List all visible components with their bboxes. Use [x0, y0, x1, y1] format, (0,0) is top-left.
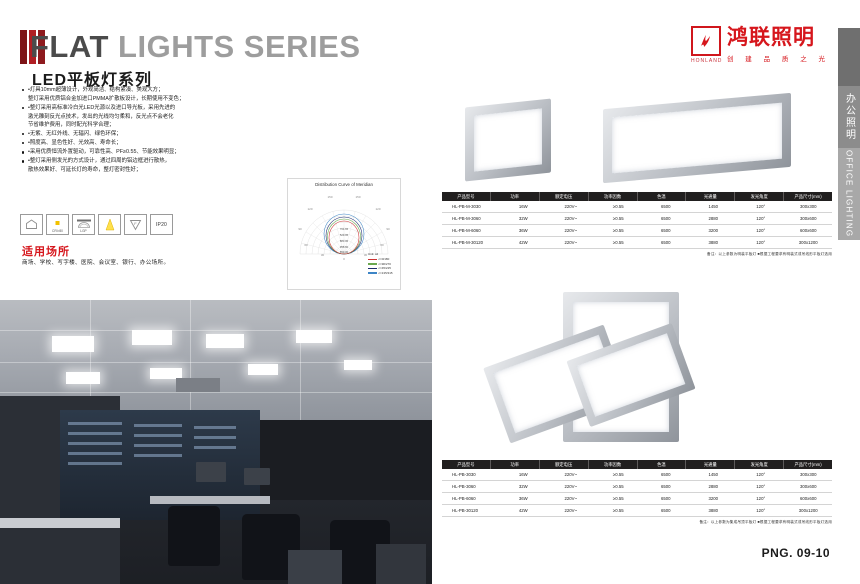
- table-header-row: 产品型号 功率 额定电压 功率因数 色温 光通量 发光角度 产品尺寸(mm): [442, 192, 832, 201]
- cell: 300x1200: [785, 240, 833, 245]
- spec-table-1: 产品型号 功率 额定电压 功率因数 色温 光通量 发光角度 产品尺寸(mm) H…: [442, 192, 832, 257]
- house-icon: [20, 214, 43, 235]
- cell: 6500: [642, 216, 690, 221]
- cell: 2880: [690, 216, 738, 221]
- chart-unit-note: Unit: cd: [368, 252, 398, 256]
- cell: 220V~: [547, 216, 595, 221]
- cell: 32W: [500, 216, 548, 221]
- table-row: HL-PB-3060 32W 220V~ ≥0.55 6500 2880 120…: [442, 481, 832, 493]
- side-tab-label-en: OFFICE LIGHTING: [845, 150, 854, 237]
- cell: 6500: [642, 496, 690, 501]
- column-header: 额定电压: [540, 460, 589, 469]
- cabinet: [288, 550, 342, 584]
- cell: 36W: [500, 228, 548, 233]
- badge-caption: LGP: [73, 229, 94, 233]
- logo-mark: HONLAND: [691, 26, 721, 64]
- monitor: [196, 462, 226, 482]
- cell: 220V~: [547, 508, 595, 513]
- cell: 2880: [690, 484, 738, 489]
- cell: 6500: [642, 508, 690, 513]
- table-row: HL-PB-3030 16W 220V~ ≥0.55 6500 1450 120…: [442, 469, 832, 481]
- cell: ≥0.55: [595, 508, 643, 513]
- panel-light-square: [465, 98, 551, 181]
- cell: 120°: [737, 228, 785, 233]
- light-beam-icon: [98, 214, 121, 235]
- cell: ≥0.55: [595, 204, 643, 209]
- cell: ≥0.55: [595, 240, 643, 245]
- column-header: 产品型号: [442, 460, 491, 469]
- desk-mid: [150, 496, 270, 504]
- side-tab-segment-dark: [838, 28, 860, 86]
- cell: 36W: [500, 496, 548, 501]
- feature-item: •整灯采用高标准冷白光LED光源以及进口导光板，采用先进的: [22, 104, 237, 113]
- feature-item: 散热效果好、可延长灯的寿命，整灯密封性好；: [22, 166, 237, 175]
- column-header: 色温: [638, 460, 687, 469]
- cell: 6500: [642, 240, 690, 245]
- feature-item: •采用优质恒流外置驱动，可靠性高、PF≥0.55、节能效果明显；: [22, 148, 237, 157]
- legend-item: c=135/315: [368, 271, 398, 275]
- column-header: 功率: [491, 460, 540, 469]
- table-header-row: 产品型号 功率 额定电压 功率因数 色温 光通量 发光角度 产品尺寸(mm): [442, 460, 832, 469]
- cell: ≥0.55: [595, 484, 643, 489]
- feature-item: •整灯采用侧发光的方式设计，通过四周的铝边框进行散热，: [22, 157, 237, 166]
- feature-item: 激光雕刻反光点技术，发出的光线均匀柔和，反光点不会老化: [22, 113, 237, 122]
- table-note: 备注：以上参数为集成吊顶平板灯 ■根据工程要求有明装式或吊线形平板灯选用: [442, 520, 832, 525]
- column-header: 色温: [638, 192, 687, 201]
- cell: 300x600: [785, 216, 833, 221]
- side-tab: 办公照明 OFFICE LIGHTING: [834, 0, 860, 584]
- chart-title: Distribution Curve of Meridian: [288, 182, 400, 187]
- photometric-chart: Distribution Curve of Meridian: [287, 178, 401, 290]
- cell: 1450: [690, 204, 738, 209]
- column-header: 光通量: [686, 460, 735, 469]
- cell: HL-PB-M-6060: [442, 228, 500, 233]
- svg-text:30: 30: [364, 253, 368, 257]
- page-title-strong: FLAT: [30, 29, 109, 64]
- cell: 300x300: [785, 204, 833, 209]
- column-header: 额定电压: [540, 192, 589, 201]
- logo-square-icon: [691, 26, 721, 56]
- svg-text:90: 90: [298, 227, 302, 231]
- cell: 120°: [737, 508, 785, 513]
- column-header: 发光角度: [735, 460, 784, 469]
- product-image-top: [455, 95, 825, 185]
- cell: ≥0.55: [595, 228, 643, 233]
- product-image-bottom: [455, 292, 825, 452]
- office-photo: HONLAND PRODUCT HANDBOOK WWW.HONLAND-LIG…: [0, 300, 432, 584]
- table-row: HL-PB-M-6060 36W 220V~ ≥0.55 6500 3200 1…: [442, 225, 832, 237]
- side-tab-segment-cn: 办公照明: [838, 86, 860, 148]
- application-heading: 适用场所: [22, 243, 70, 259]
- column-header: 产品尺寸(mm): [784, 460, 832, 469]
- cell: 120°: [737, 472, 785, 477]
- cell: 120°: [737, 240, 785, 245]
- table-row: HL-PB-6060 36W 220V~ ≥0.55 6500 3200 120…: [442, 493, 832, 505]
- cell: ≥0.55: [595, 216, 643, 221]
- column-header: 功率因数: [589, 460, 638, 469]
- cell: 16W: [500, 204, 548, 209]
- cell: 220V~: [547, 484, 595, 489]
- cell: HL-PB-3030: [442, 472, 500, 477]
- cell: 220V~: [547, 472, 595, 477]
- ip-rating-label: IP20: [156, 222, 167, 228]
- cell: 3880: [690, 240, 738, 245]
- column-header: 产品尺寸(mm): [784, 192, 832, 201]
- application-text: 商场、学校、写字楼、医院、会议室、银行、办公场所。: [22, 258, 169, 266]
- cell: 220V~: [547, 496, 595, 501]
- feature-item: •照度高、显色性好、光效高、寿命长；: [22, 139, 237, 148]
- badge-caption: CRI>80: [47, 229, 68, 233]
- column-header: 光通量: [686, 192, 735, 201]
- svg-text:0: 0: [343, 257, 345, 261]
- svg-text:764.65: 764.65: [340, 227, 349, 231]
- cell: 600x600: [785, 496, 833, 501]
- cell: ≥0.55: [595, 472, 643, 477]
- table-row: HL-PB-30120 42W 220V~ ≥0.55 6500 3880 12…: [442, 505, 832, 517]
- svg-text:150: 150: [355, 195, 360, 199]
- feature-list: •灯具10mm超薄设计，外观简洁、结构紧凑、美观大方； 整灯采用优质铝合金加进口…: [22, 86, 237, 175]
- panel-light-rect: [603, 93, 791, 183]
- cell: 120°: [737, 484, 785, 489]
- cell: 32W: [500, 484, 548, 489]
- page-number: PNG. 09-10: [762, 546, 830, 560]
- square-chip-icon: CRI>80: [46, 214, 69, 235]
- svg-text:F: F: [134, 221, 137, 226]
- cell: HL-PB-6060: [442, 496, 500, 501]
- legend-label: c=135/315: [379, 271, 393, 275]
- cell: 16W: [500, 472, 548, 477]
- svg-text:120: 120: [307, 207, 312, 211]
- cell: HL-PB-M-30120: [442, 240, 500, 245]
- cell: 42W: [500, 508, 548, 513]
- table-row: HL-PB-M-3060 32W 220V~ ≥0.55 6500 2880 1…: [442, 213, 832, 225]
- logo-brand-en: HONLAND: [691, 58, 721, 64]
- logo-tagline: 创 建 品 质 之 光: [727, 53, 830, 63]
- cell: 220V~: [547, 228, 595, 233]
- cell: HL-PB-3060: [442, 484, 500, 489]
- monitor: [244, 468, 270, 485]
- chair: [168, 506, 220, 566]
- cell: 220V~: [547, 240, 595, 245]
- cell: 120°: [737, 496, 785, 501]
- cell: 300x600: [785, 484, 833, 489]
- column-header: 功率: [491, 192, 540, 201]
- catalog-page: FLAT LIGHTS SERIES LED平板灯系列 HONLAND 鸿联照明…: [0, 0, 860, 584]
- side-tab-label-cn: 办公照明: [842, 93, 857, 141]
- cell: 6500: [642, 228, 690, 233]
- triangle-f-icon: F: [124, 214, 147, 235]
- cell: 6500: [642, 484, 690, 489]
- svg-text:120: 120: [375, 207, 380, 211]
- desk-left: [0, 518, 120, 528]
- column-header: 功率因数: [589, 192, 638, 201]
- page-title: FLAT LIGHTS SERIES: [30, 30, 430, 64]
- svg-text:853.00: 853.00: [340, 250, 349, 254]
- cabinet: [376, 544, 426, 584]
- side-tab-segment-en: OFFICE LIGHTING: [838, 148, 860, 240]
- cell: 120°: [737, 216, 785, 221]
- cell: 300x1200: [785, 508, 833, 513]
- page-title-rest: LIGHTS SERIES: [118, 29, 360, 64]
- svg-text:529.95: 529.95: [340, 233, 349, 237]
- cell: HL-PB-M-3060: [442, 216, 500, 221]
- cell: 42W: [500, 240, 548, 245]
- brand-logo: HONLAND 鸿联照明 创 建 品 质 之 光: [691, 26, 830, 68]
- dome-diffuser-icon: LGP: [72, 214, 95, 235]
- column-header: 产品型号: [442, 192, 491, 201]
- svg-text:30: 30: [321, 253, 325, 257]
- table-row: HL-PB-M-3030 16W 220V~ ≥0.55 6500 1450 1…: [442, 201, 832, 213]
- logo-brand-cn: 鸿联照明: [727, 26, 830, 50]
- ip-rating-badge: IP20: [150, 214, 173, 235]
- cell: 3200: [690, 228, 738, 233]
- feature-item: •无紫、无红外线、无辐闪、绿色环保；: [22, 130, 237, 139]
- svg-text:150: 150: [327, 195, 332, 199]
- table-note: 备注：以上参数为明装平板灯 ■根据工程要求有明装式或吊线形平板灯选用: [442, 252, 832, 257]
- svg-text:90: 90: [386, 227, 390, 231]
- certification-badges: CRI>80 LGP F IP20: [20, 214, 173, 235]
- cell: HL-PB-30120: [442, 508, 500, 513]
- cell: 1450: [690, 472, 738, 477]
- svg-text:958.60: 958.60: [340, 245, 349, 249]
- cell: HL-PB-M-3030: [442, 204, 500, 209]
- chart-legend: Unit: cd c=0/180 c=90/270 c=45/225 c=135…: [368, 252, 398, 275]
- svg-text:60: 60: [304, 243, 308, 247]
- column-header: 发光角度: [735, 192, 784, 201]
- spec-table-2: 产品型号 功率 额定电压 功率因数 色温 光通量 发光角度 产品尺寸(mm) H…: [442, 460, 832, 525]
- feature-item: •灯具10mm超薄设计，外观简洁、结构紧凑、美观大方；: [22, 86, 237, 95]
- cell: 300x300: [785, 472, 833, 477]
- table-row: HL-PB-M-30120 42W 220V~ ≥0.55 6500 3880 …: [442, 237, 832, 249]
- cell: 120°: [737, 204, 785, 209]
- cell: 600x600: [785, 228, 833, 233]
- cell: 3880: [690, 508, 738, 513]
- logo-text-block: 鸿联照明 创 建 品 质 之 光: [727, 26, 830, 63]
- feature-item: 整灯采用优质铝合金加进口PMMA扩散板设计，长期使用不变色；: [22, 95, 237, 104]
- cell: 6500: [642, 204, 690, 209]
- cell: 3200: [690, 496, 738, 501]
- svg-text:60: 60: [380, 243, 384, 247]
- cell: ≥0.55: [595, 496, 643, 501]
- cell: 220V~: [547, 204, 595, 209]
- cell: 6500: [642, 472, 690, 477]
- feature-item: 节省维护费用，同时配光科学合理；: [22, 121, 237, 130]
- svg-text:883.00: 883.00: [340, 239, 349, 243]
